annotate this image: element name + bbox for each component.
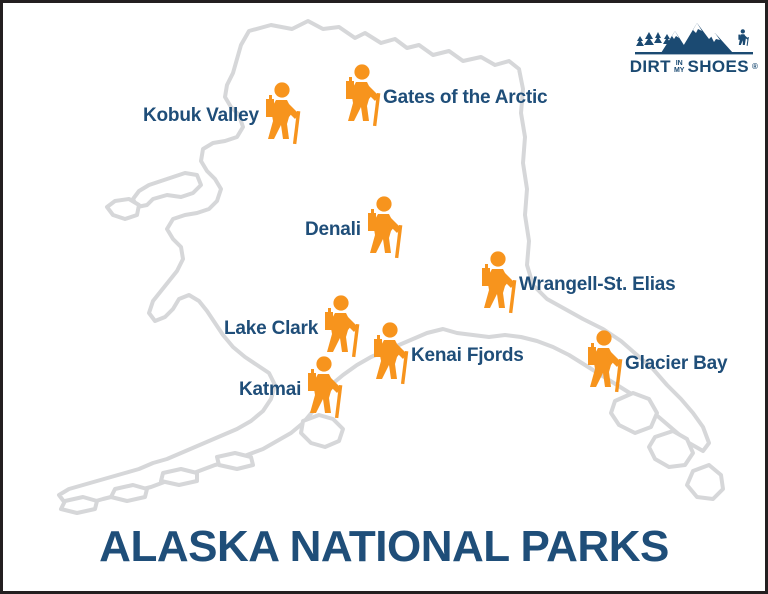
map-marker-lake-clark[interactable]: Lake Clark [224, 294, 362, 362]
map-marker-denali[interactable]: Denali [305, 195, 405, 263]
hiker-icon [339, 63, 383, 131]
map-marker-kenai-fjords[interactable]: Kenai Fjords [367, 321, 524, 389]
aleutian-island-4 [61, 497, 97, 513]
logo-word-in: IN [674, 60, 685, 67]
hiker-icon [259, 81, 303, 149]
logo-small-inmy: IN MY [674, 60, 685, 74]
logo-word-dirt: DIRT [630, 58, 671, 75]
park-label-katmai: Katmai [239, 380, 301, 399]
map-marker-glacier-bay[interactable]: Glacier Bay [581, 329, 727, 397]
map-marker-wrangell-st-elias[interactable]: Wrangell-St. Elias [475, 250, 676, 318]
mountain-trees-hiker-logo-icon [635, 13, 753, 57]
hiker-icon [581, 329, 625, 397]
park-label-lake-clark: Lake Clark [224, 319, 318, 338]
aleutian-island-3 [111, 485, 147, 501]
hiker-icon [475, 250, 519, 318]
poster-title: ALASKA NATIONAL PARKS [3, 525, 765, 569]
hiker-icon [318, 294, 362, 362]
map-marker-katmai[interactable]: Katmai [239, 355, 345, 423]
park-label-denali: Denali [305, 220, 361, 239]
seward-peninsula-shape [133, 173, 201, 207]
logo-word-shoes: SHOES [687, 58, 749, 75]
panhandle-island-3 [687, 465, 723, 499]
park-label-wrangell-st-elias: Wrangell-St. Elias [519, 275, 676, 294]
hiker-icon [361, 195, 405, 263]
panhandle-island-1 [611, 393, 657, 433]
map-marker-kobuk-valley[interactable]: Kobuk Valley [143, 81, 303, 149]
park-label-kenai-fjords: Kenai Fjords [411, 346, 524, 365]
logo-wordmark: DIRT IN MY SHOES® [635, 58, 753, 75]
hiker-icon [367, 321, 411, 389]
hiker-icon [301, 355, 345, 423]
aleutian-island-2 [161, 469, 197, 485]
panhandle-island-2 [649, 431, 693, 467]
logo-word-my: MY [674, 67, 685, 74]
map-marker-gates-of-the-arctic[interactable]: Gates of the Arctic [339, 63, 547, 131]
park-label-glacier-bay: Glacier Bay [625, 354, 727, 373]
logo-registered-mark: ® [752, 63, 758, 71]
aleutian-island-1 [217, 453, 253, 469]
alaska-national-parks-poster: DIRT IN MY SHOES® Kobuk Valley [0, 0, 768, 594]
nunivak-island-shape [107, 199, 139, 219]
dirt-in-my-shoes-logo[interactable]: DIRT IN MY SHOES® [635, 13, 753, 75]
park-label-gates-of-the-arctic: Gates of the Arctic [383, 88, 547, 107]
park-label-kobuk-valley: Kobuk Valley [143, 106, 259, 125]
